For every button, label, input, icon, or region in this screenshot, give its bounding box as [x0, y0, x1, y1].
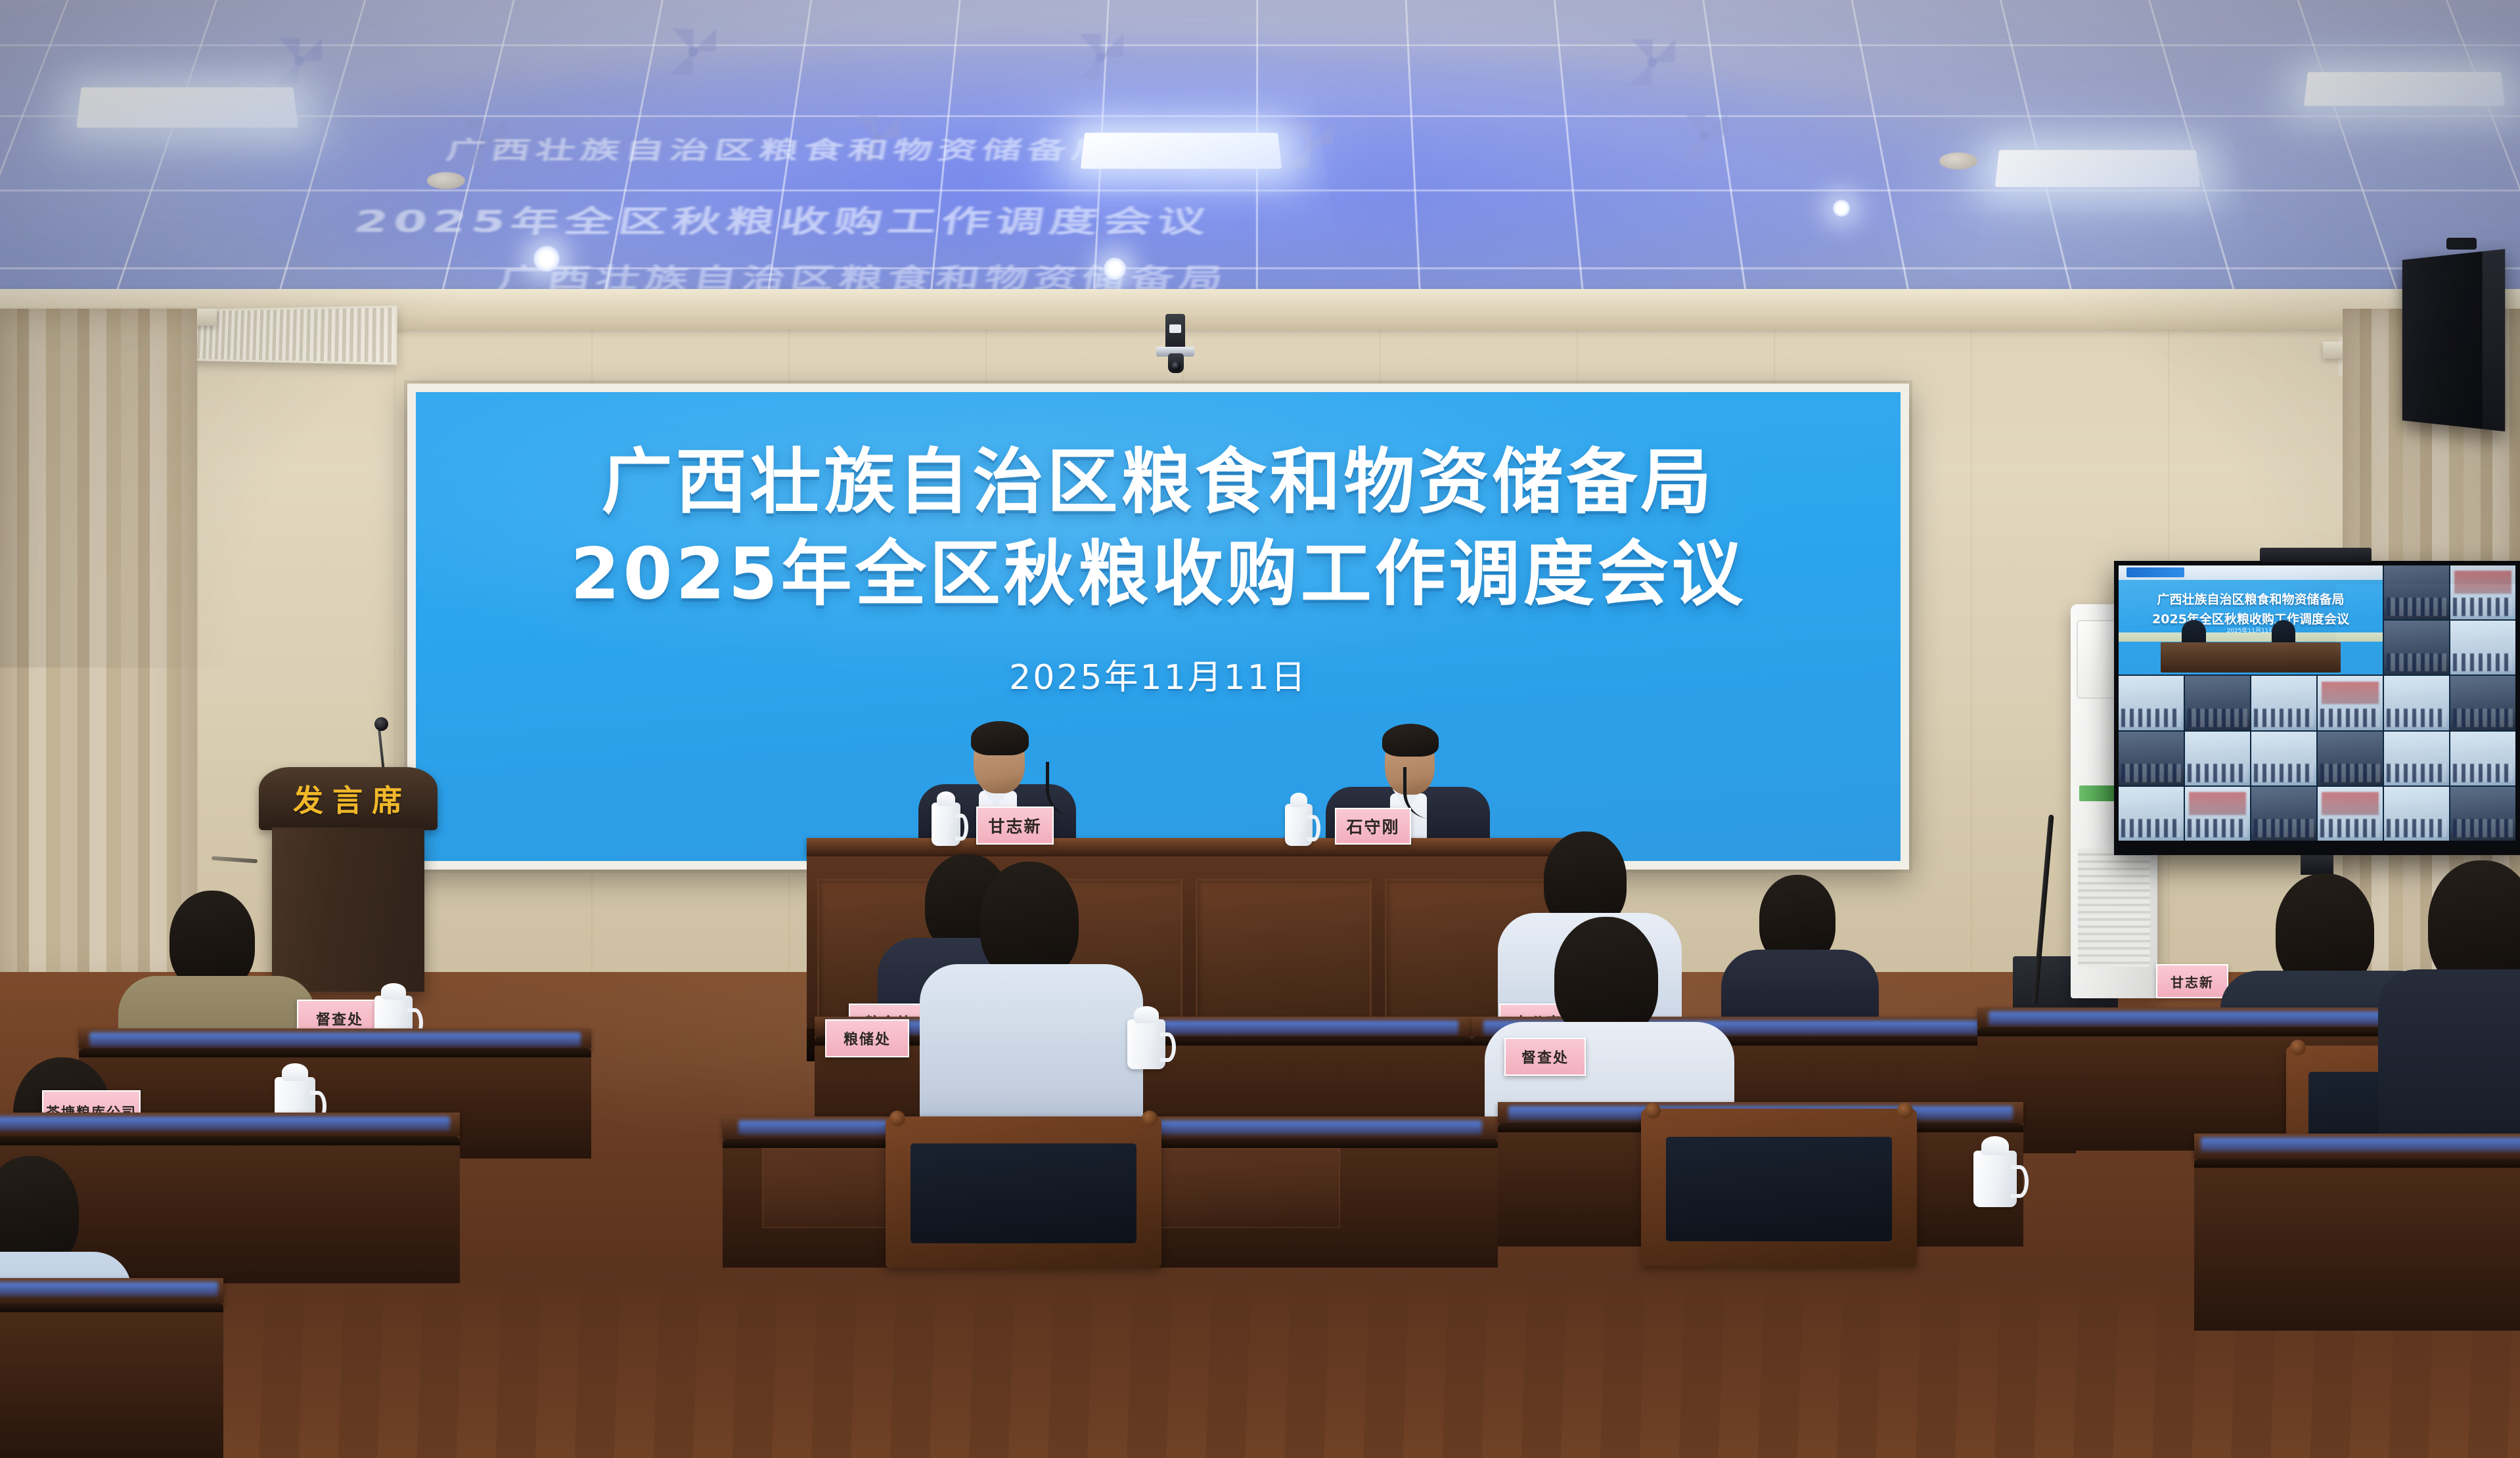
- chair-knob: [1131, 1329, 1151, 1349]
- video-tile-person: [2182, 620, 2205, 644]
- video-tile: [2450, 621, 2515, 674]
- namecard-text: 甘志新: [2171, 972, 2214, 991]
- desk-lip: [0, 1303, 223, 1312]
- foreground-desk-center-right: [1458, 1248, 2378, 1458]
- microphone-icon: [374, 717, 388, 731]
- teacup-icon: [1285, 804, 1313, 846]
- desk-lip: [1458, 1279, 2378, 1291]
- chair-cushion: [1666, 1137, 1892, 1241]
- ceiling-downlight: [1833, 200, 1850, 217]
- video-conference-wall: 广西壮族自治区粮食和物资储备局 2025年全区秋粮收购工作调度会议 2025年1…: [2114, 561, 2520, 855]
- ac-brand-logo: [2079, 785, 2117, 801]
- desk-front-panel: [1458, 1279, 2378, 1458]
- video-tile: [2450, 732, 2515, 785]
- attendee-head: [1554, 917, 1658, 1039]
- tv-wall-bracket: [2260, 548, 2372, 562]
- desk-surface: [539, 1235, 1616, 1270]
- video-tile: [2251, 676, 2316, 730]
- ceiling-motif: [1288, 122, 1334, 168]
- video-tile: [2318, 676, 2383, 730]
- ceiling-motif: [276, 38, 322, 84]
- video-tile-title-1: 广西壮族自治区粮食和物资储备局: [2129, 592, 2372, 607]
- desk-namecard: 督查处: [1504, 1038, 1586, 1076]
- ceiling-motif: [1629, 39, 1675, 85]
- namecard-text: 督查处: [316, 1008, 363, 1029]
- video-tile: [2119, 787, 2184, 841]
- foreground-desk-left-2: [0, 1278, 223, 1458]
- ac-air-grille: [2078, 849, 2151, 967]
- video-tile: [2119, 676, 2184, 730]
- speaker-mount-bracket: [2446, 238, 2477, 250]
- video-tile-logo: [2126, 567, 2184, 577]
- ceiling-reflected-text: 2025年全区秋粮收购工作调度会议: [351, 197, 1215, 240]
- speaker-side-panel: [2483, 249, 2506, 431]
- video-tile: [2384, 565, 2449, 619]
- chair-cushion: [736, 1361, 1129, 1444]
- video-tile-band: [2119, 632, 2383, 642]
- official-hair: [1382, 724, 1439, 757]
- chair-knob: [2290, 1040, 2306, 1055]
- desk-namecard: 粮储处: [825, 1019, 909, 1057]
- screen-title-line-1: 广西壮族自治区粮食和物资储备局: [416, 437, 1901, 529]
- camera-mount-plate: [1165, 314, 1185, 351]
- screen-title-line-2: 2025年全区秋粮收购工作调度会议: [416, 529, 1901, 621]
- chair-cushion: [911, 1143, 1136, 1243]
- desk-front-panel: [0, 1303, 223, 1458]
- namecard-text: 甘志新: [988, 814, 1041, 837]
- chair-knob: [715, 1329, 734, 1349]
- podium-sign-text: 发言席: [285, 777, 411, 820]
- ceiling-reflected-text: 广西壮族自治区粮食和物资储备局: [443, 131, 1119, 166]
- video-tile: [2450, 676, 2515, 730]
- smoke-detector-icon: [1939, 152, 1977, 169]
- desk-lip: [0, 1136, 460, 1145]
- desk-lip: [79, 1048, 591, 1057]
- video-tile: [2185, 787, 2250, 841]
- desk-screen-reflection: [2201, 1138, 2520, 1152]
- desk-screen-reflection: [89, 1032, 581, 1047]
- desk-lip: [539, 1268, 1616, 1281]
- video-tile-person: [2272, 620, 2295, 644]
- namecard-text: 督查处: [1521, 1046, 1569, 1067]
- desk-surface: [0, 1113, 460, 1139]
- video-tile: [2450, 565, 2515, 619]
- tv-wall-stand: [2301, 855, 2333, 875]
- video-wall-grid: 广西壮族自治区粮食和物资储备局 2025年全区秋粮收购工作调度会议 2025年1…: [2119, 565, 2515, 841]
- desk-surface: [1458, 1248, 2378, 1282]
- attendee-torso: [920, 964, 1143, 1141]
- ceiling-motif: [670, 29, 716, 75]
- video-tile: [2185, 676, 2250, 730]
- ceiling-motif: [1682, 113, 1728, 159]
- head-table-namecard-right: 石守刚: [1335, 808, 1411, 845]
- chair-knob: [1645, 1103, 1661, 1118]
- ceiling-motif: [1077, 34, 1123, 80]
- ceiling: 广西壮族自治区粮食和物资储备局 2025年全区秋粮收购工作调度会议 广西壮族自治…: [0, 0, 2520, 302]
- ceiling-light-panel: [76, 87, 298, 127]
- desk-screen-reflection: [0, 1282, 218, 1296]
- screen-display: 广西壮族自治区粮食和物资储备局 2025年全区秋粮收购工作调度会议 2025年1…: [416, 392, 1901, 861]
- main-led-screen: 广西壮族自治区粮食和物资储备局 2025年全区秋粮收购工作调度会议 2025年1…: [407, 384, 1909, 870]
- ceiling-downlight: [1104, 257, 1126, 280]
- namecard-text: 石守刚: [1346, 814, 1399, 838]
- chair-knob: [889, 1111, 905, 1126]
- video-tile: [2185, 732, 2250, 785]
- video-tile-table: [2161, 642, 2340, 673]
- teacup-icon: [1127, 1019, 1165, 1069]
- desk-surface: [2194, 1134, 2520, 1161]
- official-hair: [971, 721, 1029, 755]
- video-tile: [2450, 787, 2515, 841]
- camera-lens-icon: [1168, 353, 1184, 373]
- ceiling-light-panel: [1995, 150, 2201, 187]
- teacup-icon: [1973, 1151, 2017, 1207]
- video-tile: [2251, 787, 2316, 841]
- desk-screen-reflection: [560, 1241, 1594, 1264]
- smoke-detector-icon: [427, 172, 465, 189]
- desk-lip: [2194, 1159, 2520, 1168]
- ptz-camera-icon: [1160, 314, 1190, 377]
- attendee: [920, 862, 1143, 1138]
- attendee-head: [980, 862, 1079, 980]
- chair-knob: [1897, 1103, 1913, 1118]
- video-tile: [2384, 787, 2449, 841]
- screen-date: 2025年11月11日: [416, 650, 1901, 699]
- teacup-icon: [932, 803, 960, 846]
- video-tile: [2318, 732, 2383, 785]
- video-tile: [2384, 676, 2449, 730]
- podium-sign: 发言席: [259, 767, 438, 830]
- curtain-left: [0, 309, 197, 992]
- conference-room-scene: 广西壮族自治区粮食和物资储备局 2025年全区秋粮收购工作调度会议 广西壮族自治…: [0, 0, 2520, 1458]
- video-tile: [2384, 732, 2449, 785]
- desk-surface: [0, 1278, 223, 1306]
- ceiling-light-panel: [1081, 133, 1282, 169]
- desk-namecard: 甘志新: [2156, 964, 2228, 998]
- head-table-panel: [1196, 879, 1372, 1030]
- ceiling-downlight: [533, 246, 560, 272]
- desk-screen-reflection: [0, 1116, 450, 1131]
- video-tile-main: 广西壮族自治区粮食和物资储备局 2025年全区秋粮收购工作调度会议 2025年1…: [2119, 565, 2383, 674]
- chair-foreground: [709, 1337, 1156, 1458]
- desk-surface: [79, 1028, 591, 1051]
- head-table-namecard-left: 甘志新: [976, 806, 1054, 845]
- chair-knob: [1142, 1111, 1158, 1126]
- chair: [1641, 1109, 1917, 1266]
- video-tile: [2119, 732, 2184, 785]
- namecard-text: 粮储处: [844, 1028, 891, 1049]
- ceiling-light-panel: [2304, 72, 2505, 106]
- video-tile: [2384, 621, 2449, 674]
- screen-title-block: 广西壮族自治区粮食和物资储备局 2025年全区秋粮收购工作调度会议: [416, 437, 1901, 621]
- video-tile: [2318, 787, 2383, 841]
- wall-speaker-icon: [2402, 249, 2506, 431]
- desk-screen-reflection: [1477, 1254, 2360, 1275]
- video-tile: [2251, 732, 2316, 785]
